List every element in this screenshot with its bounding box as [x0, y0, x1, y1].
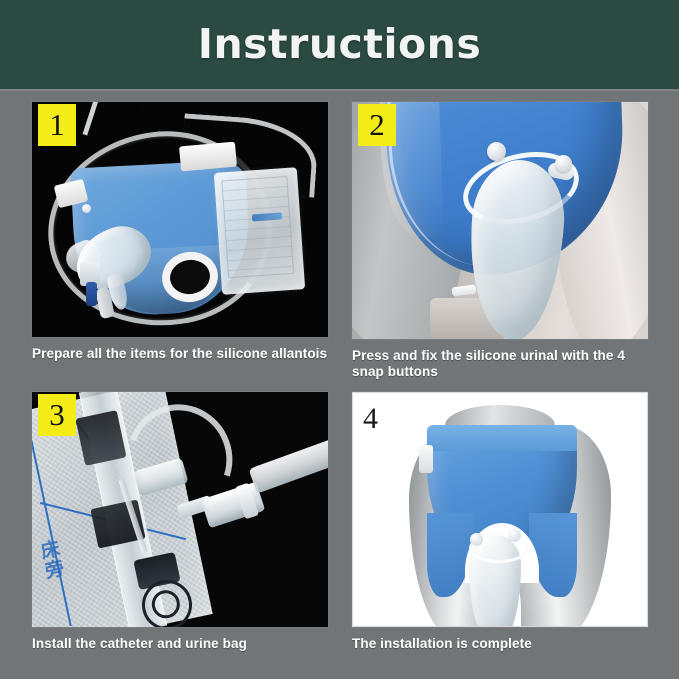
step-badge-3: 3 — [38, 394, 76, 436]
step-photo-1: 1 — [32, 102, 328, 337]
urine-collection-bag — [214, 167, 305, 294]
step-card-4: 4 The installation is complete — [352, 392, 648, 652]
bag-graduation-marks — [221, 176, 294, 278]
snap-button-1 — [487, 142, 506, 161]
step-photo-3: 床旁 3 — [32, 392, 328, 627]
garment-waistband — [427, 425, 577, 451]
step-card-3: 床旁 3 Install the catheter and urine bag — [32, 392, 328, 652]
step-photo-2: 2 — [352, 102, 648, 339]
step-card-2: 2 Press and fix the silicone urinal with… — [352, 102, 648, 380]
velcro-strap-right — [179, 142, 237, 172]
bag-drain-valve — [86, 282, 97, 306]
step-badge-2: 2 — [358, 104, 396, 146]
infographic-page: Instructions — [0, 0, 679, 679]
snap-button — [82, 204, 91, 213]
step-badge-4: 4 — [363, 401, 397, 437]
step-badge-1: 1 — [38, 104, 76, 146]
step-caption-1: Prepare all the items for the silicone a… — [32, 346, 332, 362]
garment-side-tab — [419, 445, 433, 473]
snap-button-1 — [470, 533, 483, 546]
step-caption-2: Press and fix the silicone urinal with t… — [352, 348, 652, 380]
step-caption-3: Install the catheter and urine bag — [32, 636, 332, 652]
snap-button-2 — [508, 529, 521, 542]
snap-button-2 — [555, 155, 572, 172]
step-card-1: 1 Prepare all the items for the silicone… — [32, 102, 328, 362]
step-caption-4: The installation is complete — [352, 636, 652, 652]
header-banner: Instructions — [0, 0, 679, 89]
page-title: Instructions — [198, 24, 482, 65]
step-photo-4: 4 — [352, 392, 648, 627]
steps-grid: 1 Prepare all the items for the silicone… — [0, 91, 679, 679]
